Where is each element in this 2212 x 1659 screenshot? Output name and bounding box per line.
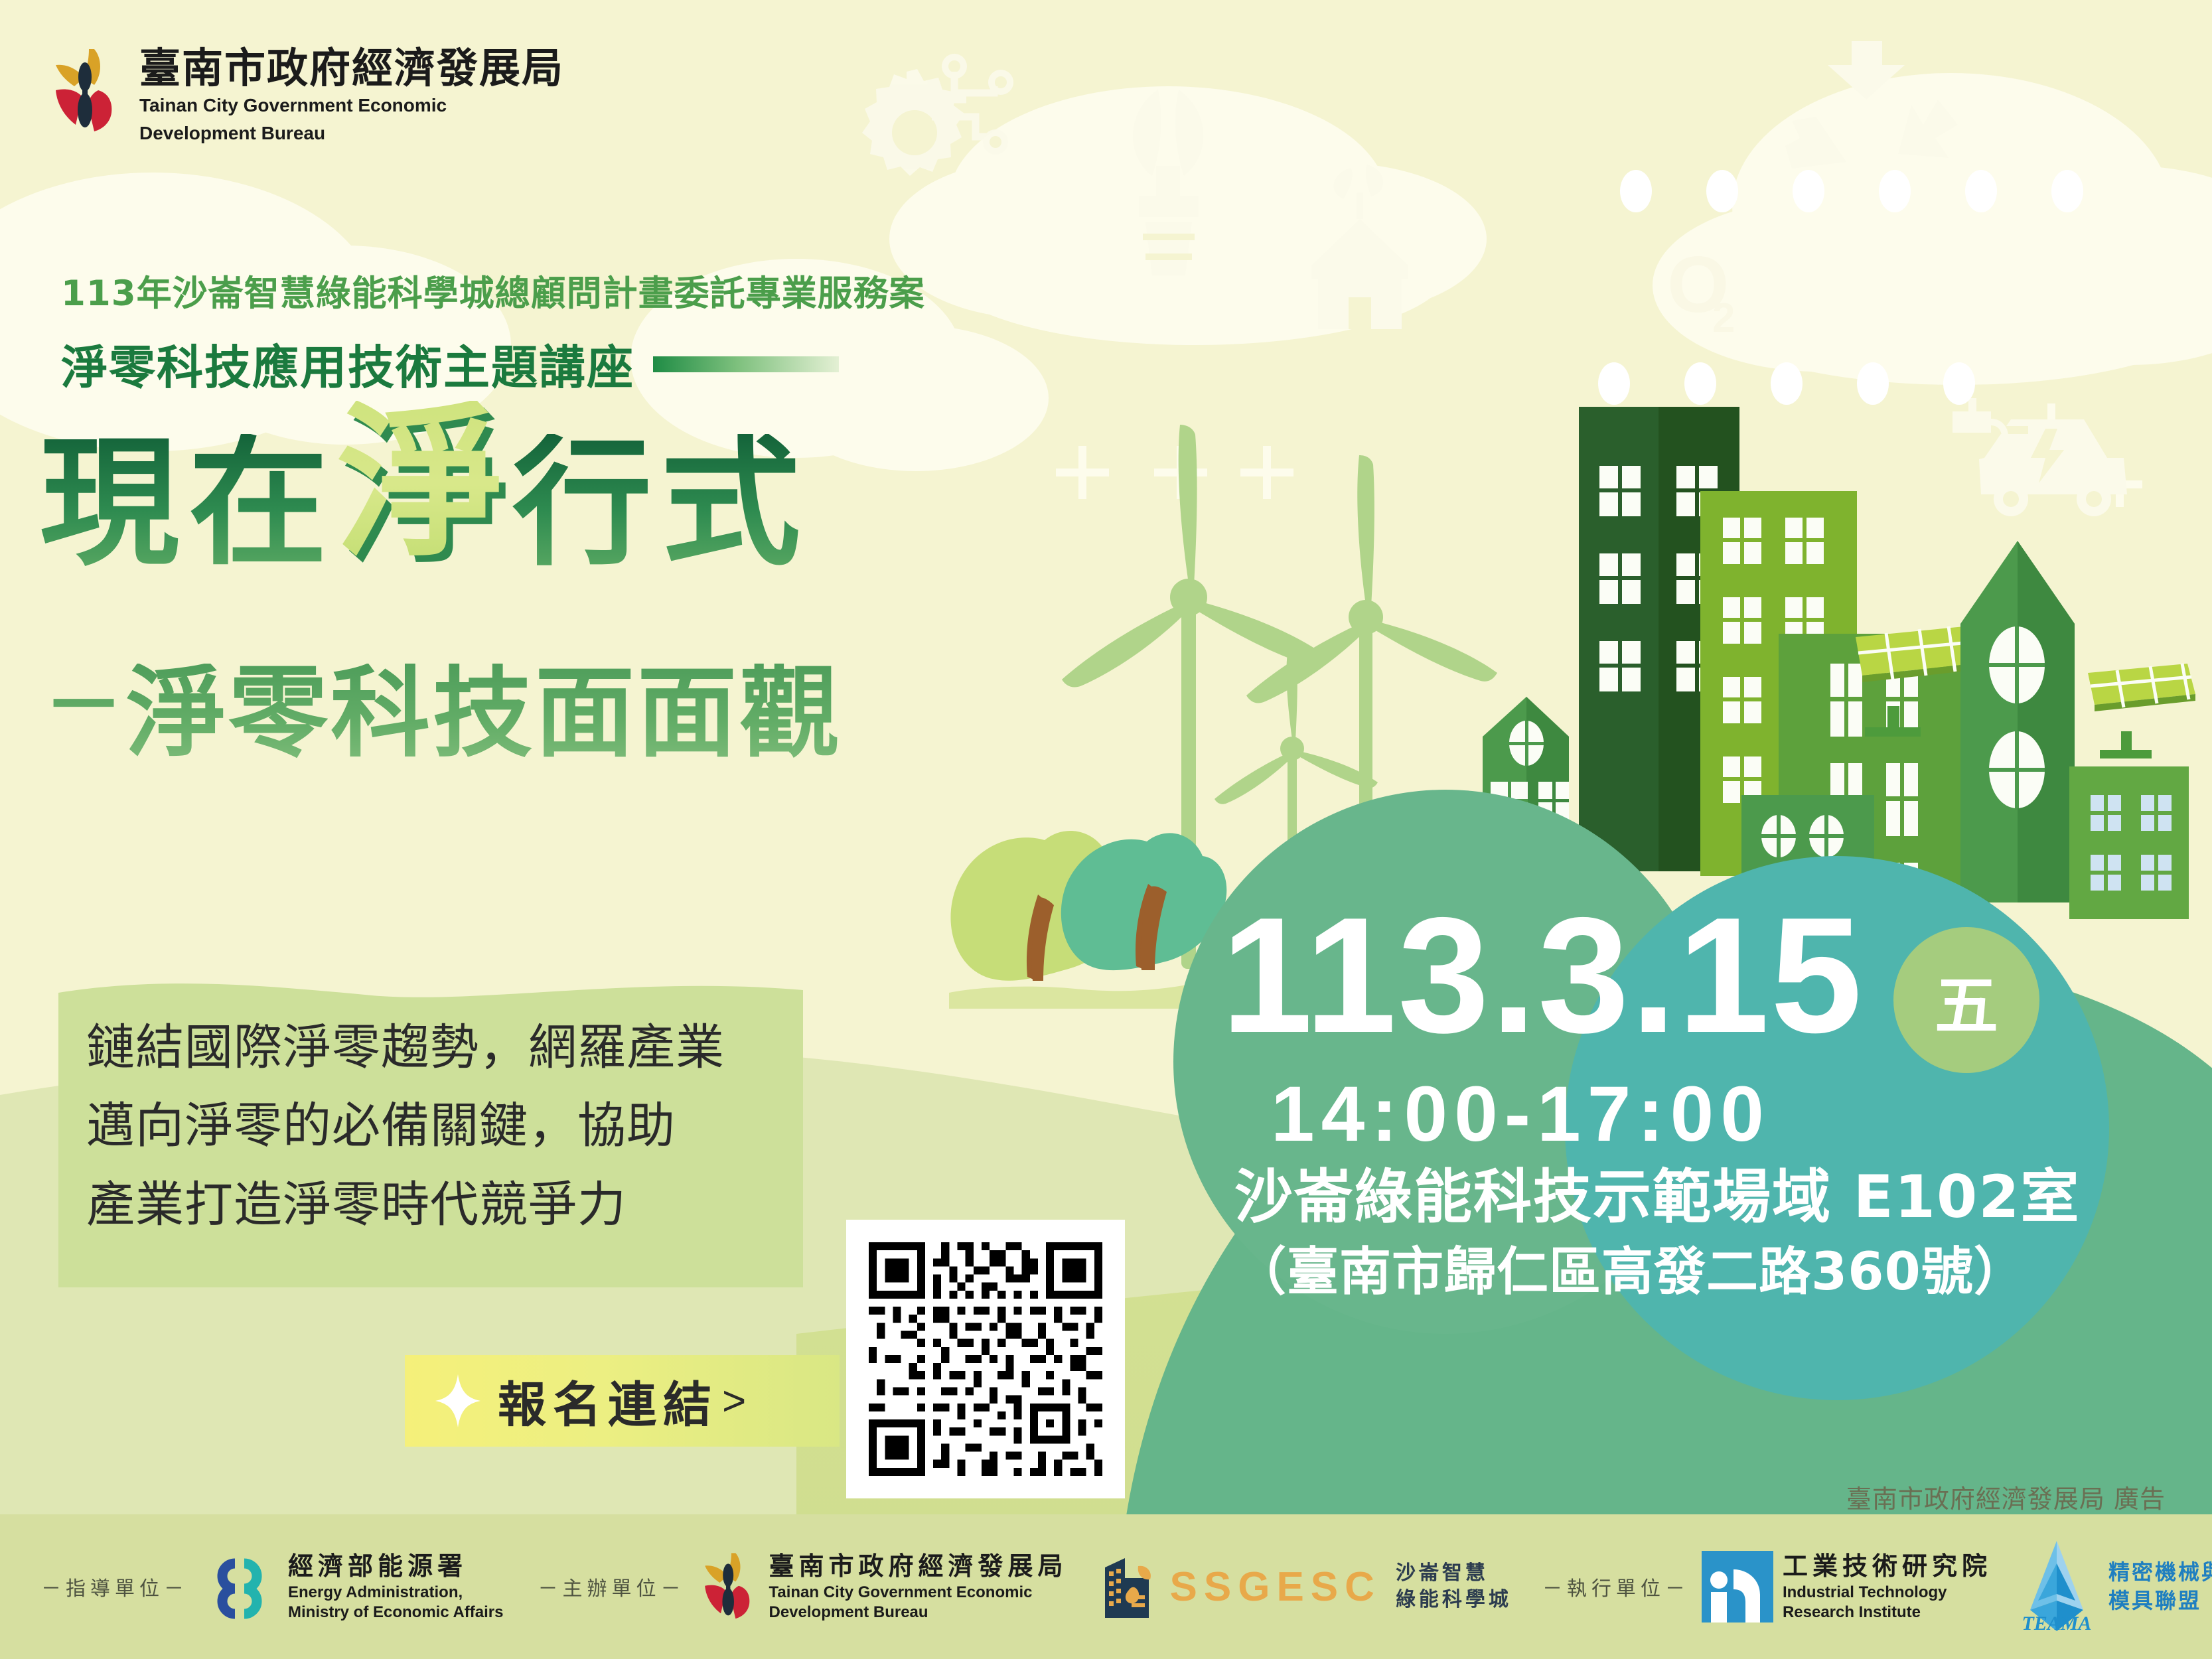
title-block: 113年沙崙智慧綠能科學城總顧問計畫委託專業服務案 淨零科技應用技術主題講座 (61, 265, 925, 397)
teama-zh-2: 模具聯盟 (2108, 1587, 2212, 1615)
teama-logo: TEAMA (2014, 1537, 2099, 1636)
gradient-bar (653, 356, 839, 372)
svg-text:2: 2 (1712, 295, 1735, 341)
header-org-en-1: Tainan City Government Economic (139, 94, 564, 117)
main-headline: 現在淨行式 (40, 411, 810, 577)
subheadline-char-6: 面 (637, 664, 737, 763)
footer-name-en-0-1: Energy Administration, (288, 1583, 504, 1603)
description-line-1: 鏈結國際淨零趨勢，網羅產業 (86, 1009, 909, 1087)
subheadline-char-7: 觀 (739, 664, 839, 763)
event-time: 14:00-17:00 (1271, 1075, 1771, 1153)
ssgesc-wordmark: SSGESC (1170, 1563, 1381, 1611)
sparkle-icon (435, 1374, 480, 1427)
svg-text:TEAMA: TEAMA (2022, 1613, 2091, 1634)
project-line: 113年沙崙智慧綠能科學城總顧問計畫委託專業服務案 (61, 265, 925, 316)
weekday-label: 五 (1935, 954, 1998, 1046)
footer-name-zh-0: 經濟部能源署 (288, 1551, 504, 1583)
subheadline-char-4: 技 (433, 664, 532, 763)
footer-tag-guidance: －指導單位－ (41, 1572, 188, 1601)
register-link-button[interactable]: 報名連結 > (405, 1355, 840, 1447)
footer-tag-organizer: －主辦單位－ (538, 1572, 686, 1601)
subheadline-char-2: 零 (228, 664, 328, 763)
footer-group-tainan-bureau: －主辦單位－ 臺南市政府經濟發展局 Tainan City Government… (538, 1550, 1068, 1623)
headline-char-3: 行 (512, 434, 652, 573)
poster-canvas: O 2 (0, 0, 2212, 1659)
footer-name-en-0-2: Ministry of Economic Affairs (288, 1603, 504, 1623)
header-logo: 臺南市政府經濟發展局 Tainan City Government Econom… (46, 46, 564, 146)
headline-char-0: 現 (40, 434, 179, 573)
footer-name-en-1-2: Development Bureau (769, 1603, 1068, 1623)
description-line-2: 邁向淨零的必備關鍵，協助 (86, 1087, 909, 1165)
headline-char-2-highlight: 淨 (337, 401, 503, 567)
qr-code-container[interactable] (846, 1220, 1125, 1498)
subheadline-char-1: 淨 (126, 664, 226, 763)
headline-char-4: 式 (661, 434, 800, 573)
footer-name-en-1-1: Tainan City Government Economic (769, 1583, 1068, 1603)
subheadline-char-5: 面 (535, 664, 634, 763)
event-address: （臺南市歸仁區高發二路360號） (1234, 1246, 2026, 1298)
header-org-en-2: Development Bureau (139, 121, 564, 145)
footer-name-en-3-2: Research Institute (1783, 1603, 1992, 1623)
register-label: 報名連結 (498, 1366, 718, 1436)
headline-char-1: 在 (188, 434, 328, 573)
footer-tag-executor: －執行單位－ (1542, 1572, 1690, 1601)
ssgesc-zh-2: 綠能科學城 (1396, 1587, 1512, 1614)
solar-panel-icon-2 (2088, 664, 2195, 758)
ev-car-icon (1953, 398, 2127, 516)
description-block: 鏈結國際淨零趨勢，網羅產業 邁向淨零的必備關鍵，協助 產業打造淨零時代競爭力 (86, 1009, 909, 1244)
footer-group-itri: －執行單位－ 工業技術研究院 Industrial Technology Res… (1542, 1551, 1992, 1623)
itri-logo (1702, 1551, 1773, 1623)
ssgesc-building-logo (1100, 1551, 1161, 1622)
ad-note: 臺南市政府經濟發展局 廣告 (1846, 1479, 2166, 1515)
sub-headline: －淨零科技面面觀 (44, 664, 842, 763)
footer-group-ssgesc: SSGESC 沙崙智慧 綠能科學城 (1100, 1551, 1512, 1622)
footer-bar: －指導單位－ 經濟部能源署 Energy Administration, Min… (0, 1514, 2212, 1659)
tower-right-blue-windows (2069, 766, 2189, 919)
ssgesc-zh-1: 沙崙智慧 (1396, 1560, 1512, 1587)
o2-label: O 2 (1667, 240, 1735, 341)
footer-name-en-3-1: Industrial Technology (1783, 1583, 1992, 1603)
event-venue: 沙崙綠能科技示範場域 E102室 (1234, 1168, 2080, 1226)
energy-administration-logo (200, 1548, 279, 1626)
teama-zh-1: 精密機械與 (2108, 1558, 2212, 1587)
header-org-zh: 臺南市政府經濟發展局 (139, 46, 564, 90)
footer-name-zh-3: 工業技術研究院 (1783, 1551, 1992, 1583)
house-pointed (1960, 541, 2075, 902)
description-line-3: 產業打造淨零時代競爭力 (86, 1166, 909, 1244)
event-date: 113.3.15 (1221, 893, 1864, 1057)
subheadline-char-3: 科 (331, 664, 430, 763)
footer-group-energy-administration: －指導單位－ 經濟部能源署 Energy Administration, Min… (41, 1548, 504, 1626)
tainan-butterfly-logo (698, 1550, 760, 1623)
subheadline-char-0: － (44, 666, 123, 746)
qr-code-icon[interactable] (869, 1242, 1102, 1476)
footer-name-zh-1: 臺南市政府經濟發展局 (769, 1551, 1068, 1583)
chevron-right-icon: > (722, 1378, 746, 1425)
weekday-badge: 五 (1893, 927, 2039, 1073)
tainan-butterfly-logo (46, 46, 125, 136)
footer-group-teama: TEAMA 精密機械與 模具聯盟 (2014, 1537, 2212, 1636)
